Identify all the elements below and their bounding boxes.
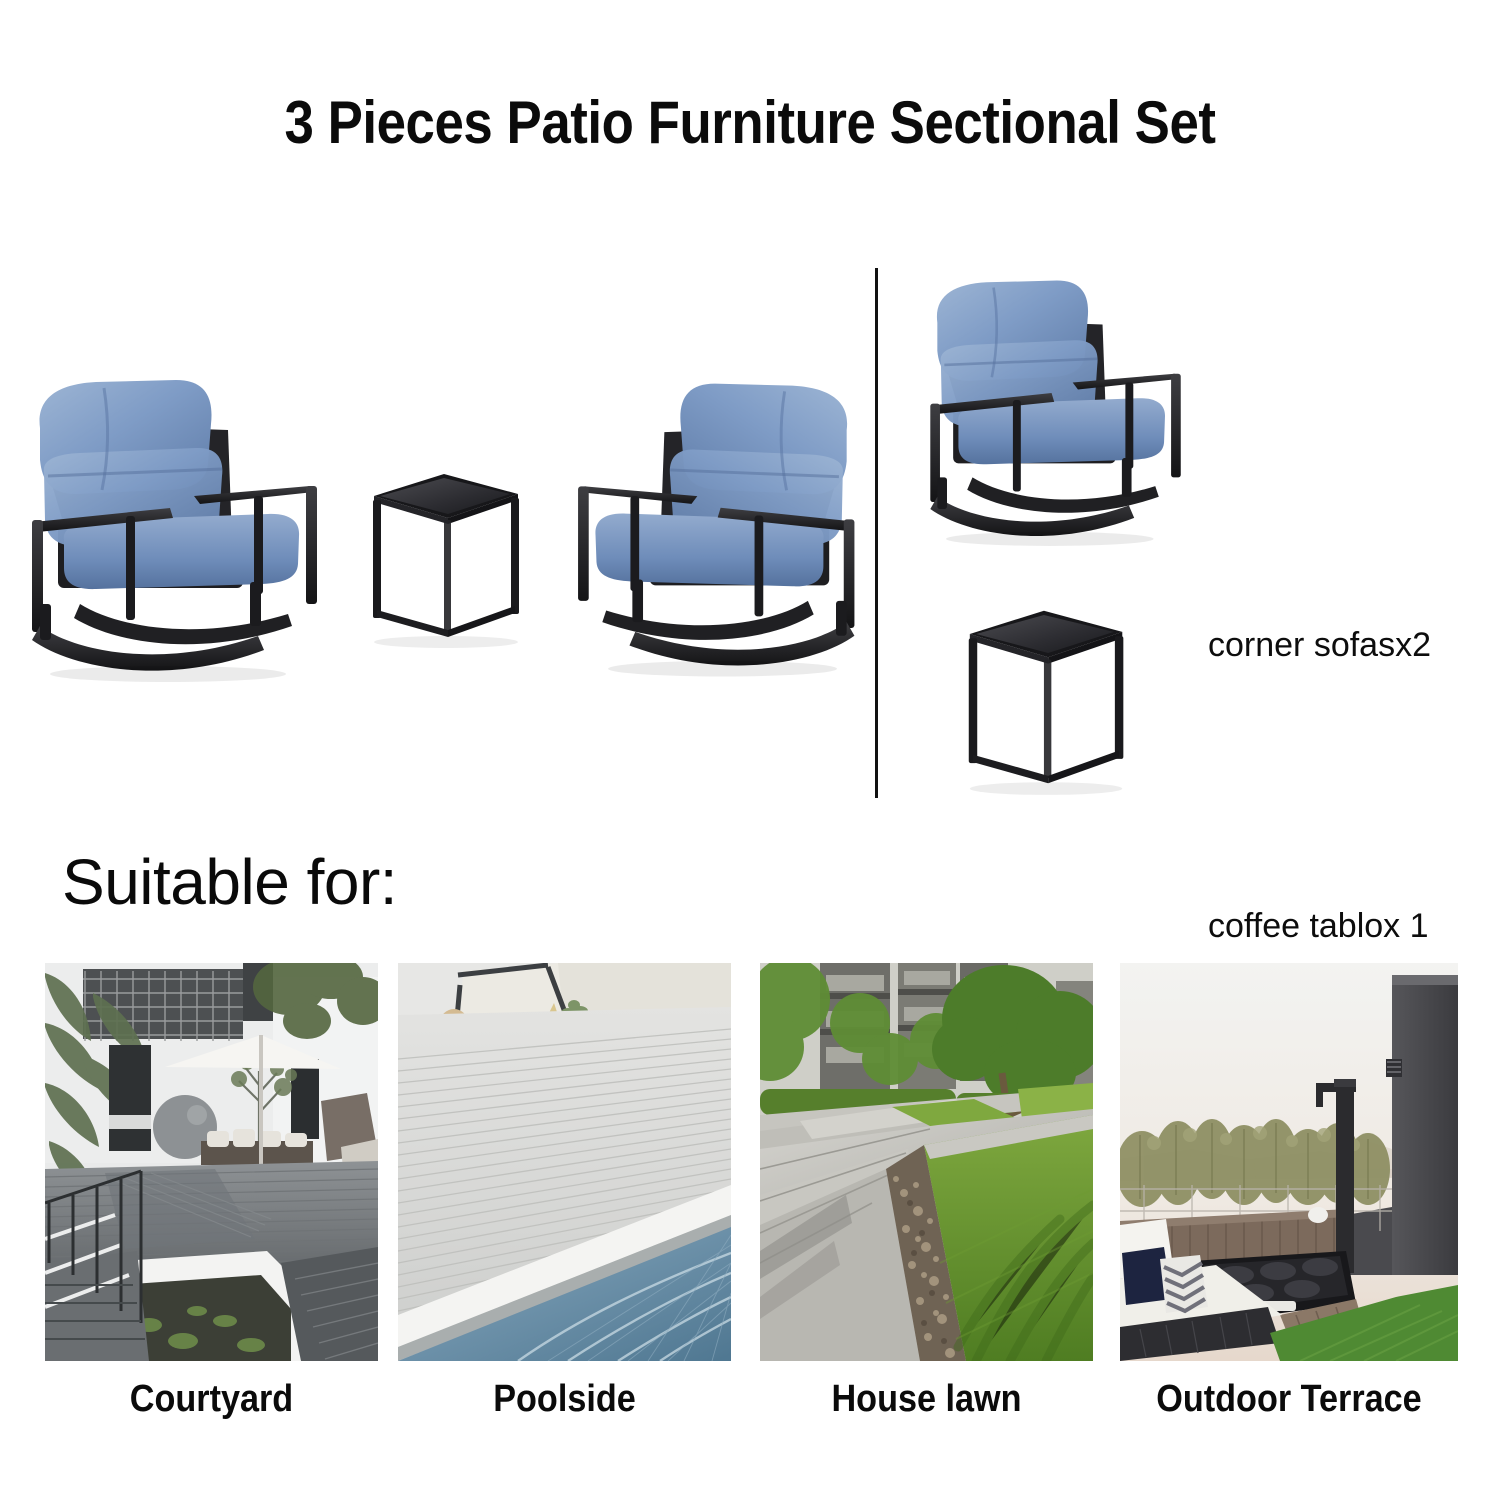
scene-caption-house-lawn: House lawn [777,1378,1077,1421]
infographic-page: 3 Pieces Patio Furniture Sectional Set [0,0,1500,1500]
scene-caption-outdoor-terrace: Outdoor Terrace [1137,1378,1441,1421]
legend-label-corner-sofas: corner sofasx2 [1208,626,1431,665]
legend-label-coffee-table: coffee tablox 1 [1208,907,1429,946]
callout-image-coffee-table [955,598,1135,778]
scene-caption-courtyard: Courtyard [62,1378,362,1421]
product-image-rocking-chair-middle [548,372,868,692]
suitable-for-heading: Suitable for: [62,845,397,919]
page-title: 3 Pieces Patio Furniture Sectional Set [90,88,1410,157]
scene-photo-house-lawn [760,963,1093,1361]
product-image-rocking-chair-left [18,368,348,698]
scene-photo-outdoor-terrace [1120,963,1458,1361]
product-image-coffee-table-main [360,462,530,652]
section-divider [875,268,878,798]
scene-gallery [0,963,1500,1361]
scene-caption-poolside: Poolside [415,1378,715,1421]
product-overview: corner sofasx2 coffee tablox 1 [0,250,1500,810]
callout-image-rocking-chair [918,270,1208,550]
scene-photo-courtyard [45,963,378,1361]
scene-photo-poolside [398,963,731,1361]
